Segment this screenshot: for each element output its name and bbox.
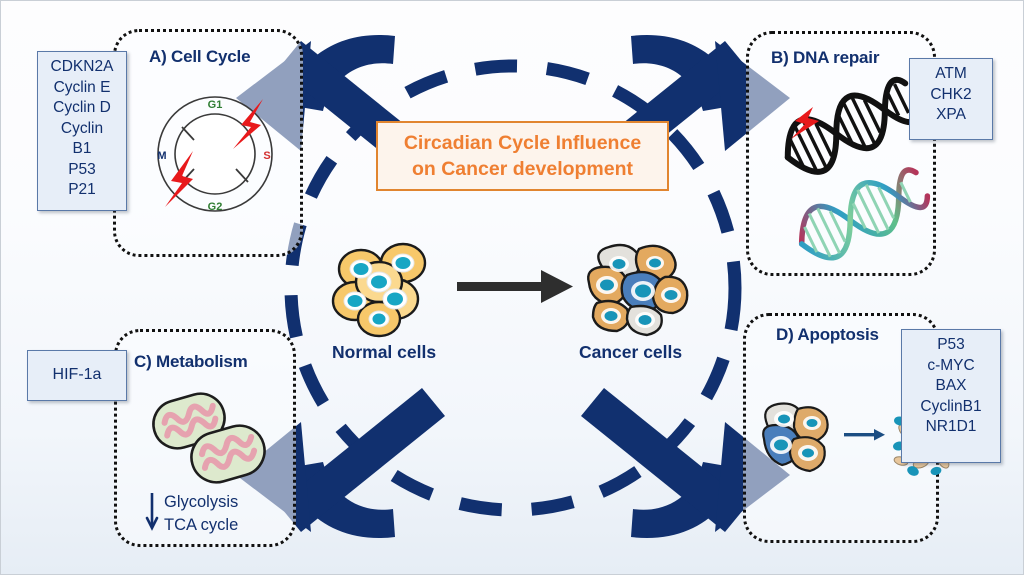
panel-d-title: D) Apoptosis bbox=[776, 325, 879, 345]
gene-list-metabolism[interactable]: HIF-1a bbox=[27, 350, 127, 401]
dna-repaired-helix-icon bbox=[791, 169, 931, 261]
gene-d-0: P53 bbox=[937, 336, 965, 353]
panel-b-title: B) DNA repair bbox=[771, 48, 879, 68]
gene-a-6: P21 bbox=[68, 181, 96, 198]
gene-a-3: Cyclin bbox=[61, 120, 103, 137]
gene-d-3: CyclinB1 bbox=[920, 398, 981, 415]
gene-list-dna-repair[interactable]: ATM CHK2 XPA bbox=[909, 58, 993, 140]
normal-cells-label: Normal cells bbox=[332, 342, 436, 363]
arrow-right-icon bbox=[457, 270, 573, 303]
cell-cycle-wheel-icon: G1 S G2 M bbox=[151, 89, 279, 219]
gene-d-1: c-MYC bbox=[927, 357, 974, 374]
figure-canvas: Circadian Cycle Influence on Cancer deve… bbox=[0, 0, 1024, 575]
center-title-text: Circadian Cycle Influence on Cancer deve… bbox=[404, 130, 641, 182]
panel-a-title: A) Cell Cycle bbox=[149, 47, 250, 67]
cancer-cells-label: Cancer cells bbox=[579, 342, 682, 363]
gene-d-4: NR1D1 bbox=[926, 418, 977, 435]
phase-label-s: S bbox=[263, 150, 270, 162]
metabolism-note-1: TCA cycle bbox=[164, 516, 238, 534]
mitochondria-icon bbox=[147, 389, 271, 487]
phase-label-g2: G2 bbox=[208, 201, 223, 213]
apoptotic-cell-cluster-icon bbox=[758, 399, 836, 477]
gene-a-1: Cyclin E bbox=[54, 79, 111, 96]
gene-b-0: ATM bbox=[935, 65, 967, 82]
metabolism-notes: Glycolysis TCA cycle bbox=[164, 491, 238, 537]
gene-b-1: CHK2 bbox=[930, 86, 971, 103]
phase-label-m: M bbox=[157, 150, 166, 162]
gene-a-2: Cyclin D bbox=[53, 99, 111, 116]
gene-a-4: B1 bbox=[73, 140, 92, 157]
gene-a-0: CDKN2A bbox=[51, 58, 114, 75]
gene-d-2: BAX bbox=[935, 377, 966, 394]
gene-a-5: P53 bbox=[68, 161, 96, 178]
normal-cells-illustration bbox=[331, 237, 451, 337]
panel-c-title: C) Metabolism bbox=[134, 352, 248, 372]
gene-list-cell-cycle[interactable]: CDKN2A Cyclin E Cyclin D Cyclin B1 P53 P… bbox=[37, 51, 127, 211]
dna-damaged-helix-icon bbox=[773, 83, 923, 173]
gene-b-2: XPA bbox=[936, 106, 966, 123]
cancer-cells-illustration bbox=[579, 237, 697, 339]
metabolism-note-0: Glycolysis bbox=[164, 493, 238, 511]
gene-list-apoptosis[interactable]: P53 c-MYC BAX CyclinB1 NR1D1 bbox=[901, 329, 1001, 463]
phase-label-g1: G1 bbox=[208, 99, 223, 111]
gene-c-0: HIF-1a bbox=[53, 365, 102, 386]
center-title-box: Circadian Cycle Influence on Cancer deve… bbox=[376, 121, 669, 191]
